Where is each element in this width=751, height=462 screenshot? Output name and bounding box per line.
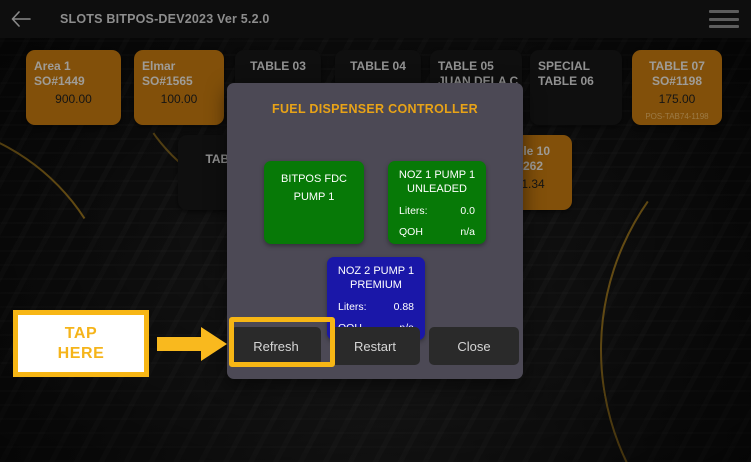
card-liters-row: Liters: 0.0 — [397, 205, 477, 217]
tap-here-callout: TAP HERE — [13, 310, 149, 377]
card-title-line1: BITPOS FDC — [273, 173, 355, 187]
dialog-title: FUEL DISPENSER CONTROLLER — [227, 102, 523, 116]
card-title-line2: UNLEADED — [397, 183, 477, 197]
card-liters-value: 0.88 — [394, 301, 414, 313]
card-qoh-value: n/a — [460, 226, 475, 238]
card-liters-label: Liters: — [338, 301, 367, 313]
card-title-line1: NOZ 2 PUMP 1 — [336, 265, 416, 279]
app-root: SLOTS BITPOS-DEV2023 Ver 5.2.0 Area 1 SO… — [0, 0, 751, 462]
card-liters-label: Liters: — [399, 205, 428, 217]
close-button[interactable]: Close — [429, 327, 519, 365]
card-bitpos-fdc-pump-1[interactable]: BITPOS FDC PUMP 1 — [264, 161, 364, 244]
tap-here-line2: HERE — [58, 344, 105, 364]
card-noz-1-pump-1[interactable]: NOZ 1 PUMP 1 UNLEADED Liters: 0.0 QOH n/… — [388, 161, 486, 244]
top-app-bar: SLOTS BITPOS-DEV2023 Ver 5.2.0 — [0, 0, 751, 38]
card-liters-value: 0.0 — [460, 205, 475, 217]
fuel-dispenser-dialog: FUEL DISPENSER CONTROLLER BITPOS FDC PUM… — [227, 83, 523, 379]
card-qoh-row: QOH n/a — [397, 226, 477, 238]
restart-button[interactable]: Restart — [330, 327, 420, 365]
refresh-button[interactable]: Refresh — [231, 327, 321, 365]
card-liters-row: Liters: 0.88 — [336, 301, 416, 313]
hamburger-menu-icon[interactable] — [707, 7, 741, 31]
card-title-line1: NOZ 1 PUMP 1 — [397, 169, 477, 183]
dialog-actions: Refresh Restart Close — [227, 327, 523, 365]
card-qoh-label: QOH — [399, 226, 423, 238]
page-title: SLOTS BITPOS-DEV2023 Ver 5.2.0 — [60, 12, 270, 26]
card-title-line2: PUMP 1 — [273, 191, 355, 205]
right-arrow-icon — [157, 325, 229, 363]
tap-here-line1: TAP — [65, 324, 98, 344]
card-title-line2: PREMIUM — [336, 279, 416, 293]
dispenser-cards: BITPOS FDC PUMP 1 NOZ 1 PUMP 1 UNLEADED … — [227, 116, 523, 308]
back-arrow-icon[interactable] — [0, 0, 42, 38]
